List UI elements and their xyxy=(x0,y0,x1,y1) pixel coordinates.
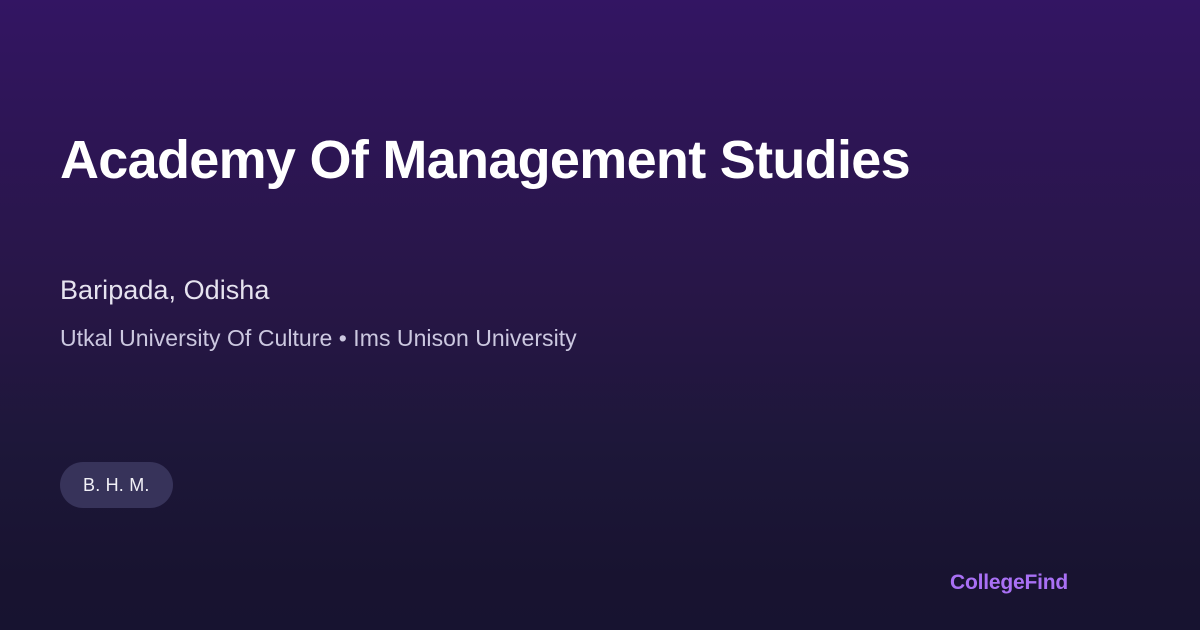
og-card: Academy Of Management Studies Baripada, … xyxy=(0,0,1200,630)
location-text: Baripada, Odisha xyxy=(60,272,1080,308)
meta-block: Baripada, Odisha Utkal University Of Cul… xyxy=(60,272,1080,354)
brand-logo-text: CollegeFind xyxy=(950,570,1068,596)
page-title: Academy Of Management Studies xyxy=(60,129,1080,191)
affiliations-text: Utkal University Of Culture • Ims Unison… xyxy=(60,323,1080,354)
status-badge: B. H. M. xyxy=(60,462,173,508)
title-block: Academy Of Management Studies xyxy=(60,129,1080,191)
tag-row: B. H. M. xyxy=(60,462,173,508)
